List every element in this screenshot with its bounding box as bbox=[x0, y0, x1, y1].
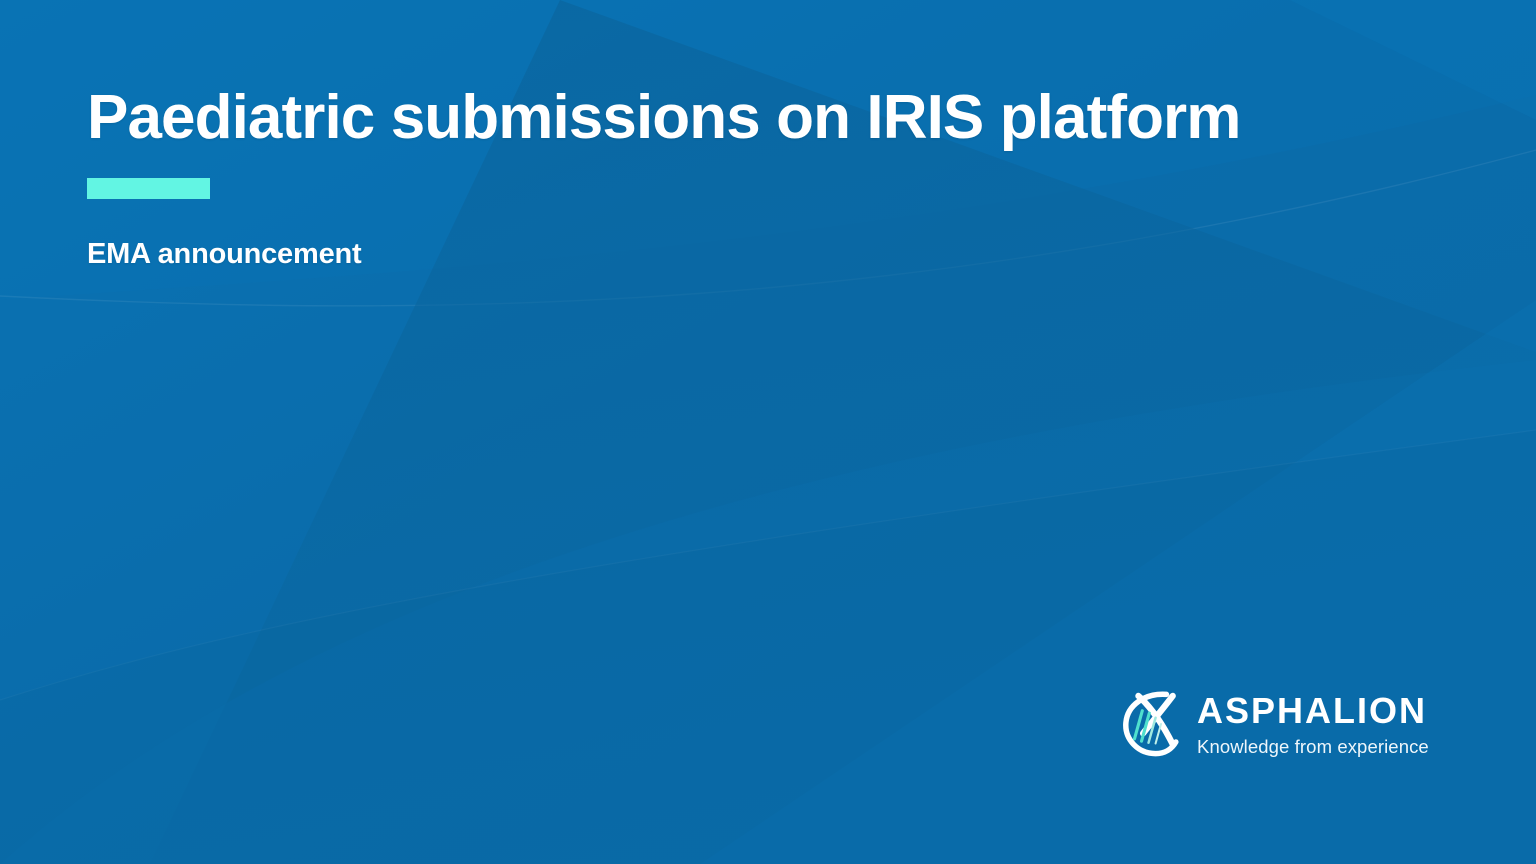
page-title: Paediatric submissions on IRIS platform bbox=[87, 86, 1241, 149]
logo-wordmark: ASPHALION bbox=[1197, 693, 1429, 729]
logo-tagline: Knowledge from experience bbox=[1197, 738, 1429, 757]
page-subtitle: EMA announcement bbox=[87, 238, 1241, 271]
brand-logo: ASPHALION Knowledge from experience bbox=[1115, 684, 1429, 764]
logo-text-block: ASPHALION Knowledge from experience bbox=[1197, 691, 1429, 757]
title-slide: Paediatric submissions on IRIS platform … bbox=[0, 0, 1536, 864]
dna-helix-icon bbox=[1115, 685, 1193, 763]
slide-content: Paediatric submissions on IRIS platform … bbox=[87, 86, 1241, 271]
accent-bar bbox=[87, 178, 210, 199]
